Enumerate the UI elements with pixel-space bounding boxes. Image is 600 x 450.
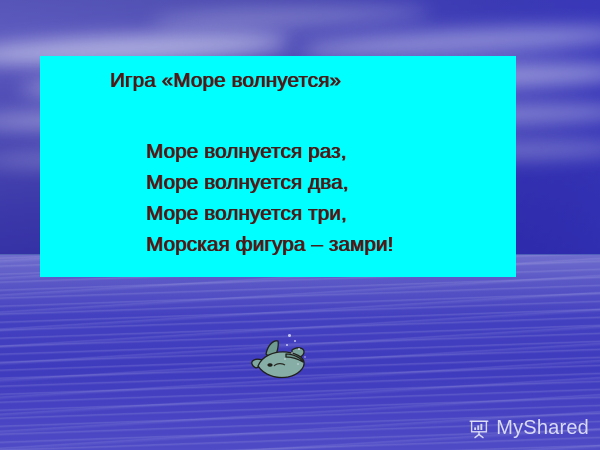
panel-title: Игра «Море волнуется»: [110, 69, 341, 93]
bubble: [291, 352, 293, 354]
slide-canvas: Игра «Море волнуется» Море волнуется раз…: [0, 0, 600, 450]
bubble: [288, 334, 291, 337]
bubble: [294, 340, 296, 342]
myshared-watermark[interactable]: MyShared: [468, 417, 589, 440]
verse-lines: Море волнуется раз, Море волнуется два, …: [146, 136, 393, 260]
bubble: [298, 348, 300, 350]
bubble: [286, 344, 288, 346]
text-panel: Игра «Море волнуется» Море волнуется раз…: [40, 56, 516, 277]
bubble: [304, 356, 306, 358]
verse-line: Море волнуется три,: [146, 198, 393, 229]
dolphin-icon: [248, 332, 318, 392]
watermark-label: MyShared: [496, 417, 589, 440]
bubble: [284, 358, 286, 360]
dolphin-graphic: [248, 332, 318, 392]
verse-line: Море волнуется два,: [146, 167, 393, 198]
verse-line: Море волнуется раз,: [146, 136, 393, 167]
bubble: [297, 363, 299, 365]
presentation-chart-icon: [468, 418, 490, 440]
verse-line: Морская фигура – замри!: [146, 229, 393, 260]
